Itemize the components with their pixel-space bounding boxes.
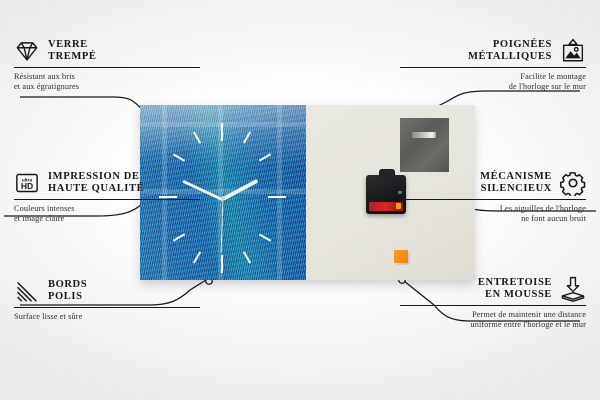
title-divider <box>400 67 586 68</box>
clock-tick <box>259 233 271 241</box>
infographic-canvas: VERRE TREMPÉ Résistant aux bris et aux é… <box>0 0 600 400</box>
clock-tick <box>243 251 251 263</box>
title-divider <box>14 307 200 308</box>
gear-icon <box>560 170 586 196</box>
feature-header: VERRE TREMPÉ <box>14 38 200 64</box>
feature-mecanisme-silencieux: MÉCANISME SILENCIEUX Les aiguilles de l'… <box>400 170 586 225</box>
feature-desc-line1: Couleurs intenses <box>14 204 200 214</box>
ultra-hd-badge-icon: ultra HD <box>14 170 40 196</box>
feature-desc-line1: Les aiguilles de l'horloge <box>400 204 586 214</box>
foam-spacer <box>394 250 408 263</box>
feature-desc-line2: ne font aucun bruit <box>400 214 586 224</box>
framed-picture-hanging-icon <box>560 38 586 64</box>
polished-edge-stripes-icon <box>14 278 40 304</box>
diamond-icon <box>14 38 40 64</box>
clock-tick <box>243 131 251 143</box>
feature-poignees-metalliques: POIGNÉES MÉTALLIQUES Facilite le montage… <box>400 38 586 93</box>
feature-title: ENTRETOISE EN MOUSSE <box>478 277 552 302</box>
feature-desc-line1: Résistant aux bris <box>14 72 200 82</box>
hanger-slot <box>412 132 436 138</box>
feature-desc-line2: uniforme entre l'horloge et le mur <box>400 320 586 330</box>
clock-center-pin <box>221 196 225 200</box>
feature-header: POIGNÉES MÉTALLIQUES <box>400 38 586 64</box>
arrow-down-on-foam-icon <box>560 276 586 302</box>
feature-header: ENTRETOISE EN MOUSSE <box>400 276 586 302</box>
feature-desc-line1: Permet de maintenir une distance <box>400 310 586 320</box>
feature-desc-line2: et aux égratignures <box>14 82 200 92</box>
feature-entretoise-en-mousse: ENTRETOISE EN MOUSSE Permet de maintenir… <box>400 276 586 331</box>
clock-tick <box>259 153 271 161</box>
title-divider <box>400 199 586 200</box>
title-divider <box>14 199 200 200</box>
feature-desc-line1: Surface lisse et sûre <box>14 312 200 322</box>
feature-bords-polis: BORDS POLIS Surface lisse et sûre <box>14 278 200 322</box>
feature-header: BORDS POLIS <box>14 278 200 304</box>
feature-title: POIGNÉES MÉTALLIQUES <box>468 39 552 64</box>
feature-title: BORDS POLIS <box>48 279 87 304</box>
mechanism-hanging-tab <box>379 169 395 178</box>
feature-desc-line2: de l'horloge sur le mur <box>400 82 586 92</box>
feature-header: ultra HD IMPRESSION DE HAUTE QUALITÉ <box>14 170 200 196</box>
title-divider <box>400 305 586 306</box>
clock-tick <box>173 233 185 241</box>
clock-tick <box>193 251 201 263</box>
feature-desc-line2: et image claire <box>14 214 200 224</box>
feature-title: IMPRESSION DE HAUTE QUALITÉ <box>48 171 144 196</box>
feature-desc-line1: Facilite le montage <box>400 72 586 82</box>
feature-impression-haute-qualite: ultra HD IMPRESSION DE HAUTE QUALITÉ Cou… <box>14 170 200 225</box>
metal-hanger-plate <box>400 118 449 172</box>
clock-tick <box>221 255 223 273</box>
svg-text:HD: HD <box>21 181 33 191</box>
clock-tick <box>173 153 185 161</box>
feature-title: VERRE TREMPÉ <box>48 39 97 64</box>
title-divider <box>14 67 200 68</box>
feature-header: MÉCANISME SILENCIEUX <box>400 170 586 196</box>
feature-title: MÉCANISME SILENCIEUX <box>480 171 552 196</box>
feature-verre-trempe: VERRE TREMPÉ Résistant aux bris et aux é… <box>14 38 200 93</box>
battery <box>369 202 403 211</box>
clock-tick <box>193 131 201 143</box>
